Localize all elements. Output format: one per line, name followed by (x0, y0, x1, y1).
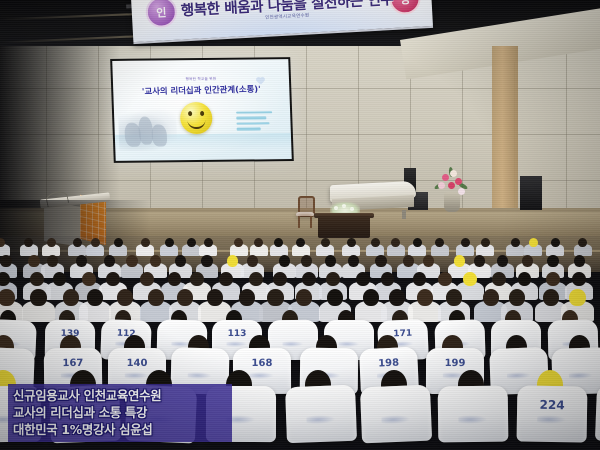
seat-logo-icon (250, 372, 274, 379)
smiley-mouth (187, 117, 205, 129)
seat-logo-icon (506, 371, 531, 379)
slide-side-text (236, 111, 281, 133)
flower-bloom (334, 206, 338, 210)
flower-bloom (342, 204, 346, 208)
audience-head (438, 272, 452, 286)
slide-hands-graphic (118, 108, 177, 151)
text-line (236, 122, 269, 125)
audience-head (76, 255, 87, 267)
seat-number: 198 (360, 357, 418, 371)
text-line (237, 128, 261, 131)
seat-number (438, 398, 508, 399)
seat-logo-icon (124, 372, 148, 379)
audience-head (483, 289, 499, 306)
audience-head (509, 289, 525, 306)
seat-number (285, 397, 355, 400)
seat-number (489, 357, 547, 359)
seat-logo-icon (569, 372, 594, 380)
audience-head (219, 272, 233, 286)
audience-head (204, 238, 213, 247)
hand-shape (151, 124, 167, 146)
chair-leg (298, 216, 300, 228)
audience-head (148, 289, 164, 306)
seat-logo-icon (459, 415, 489, 424)
audience-head (63, 289, 79, 306)
projected-slide: 행복한 학교를 위한 '교사의 리더십과 인간관계(소통)' (112, 59, 292, 161)
audience-head (82, 272, 96, 286)
audience-head (0, 255, 11, 267)
seat-logo-icon (381, 415, 411, 425)
audience-head (375, 255, 386, 267)
audience-head (574, 255, 585, 267)
seat-logo-icon (306, 415, 336, 425)
seat-logo-icon (338, 341, 359, 347)
flower-bloom (448, 182, 455, 189)
flower-bloom (450, 170, 457, 177)
photograph: 인 영 행복한 배움과 나눔을 실천하는 연수 인천광역시교육연수원 행복한 학… (0, 0, 600, 450)
audience-head (87, 289, 103, 306)
audience-head (190, 272, 204, 286)
audience-head (492, 272, 506, 286)
flower-bloom (458, 188, 465, 195)
audience-head (461, 238, 470, 247)
audience-head (522, 255, 533, 267)
seat-number (360, 397, 430, 400)
audience-head (141, 238, 150, 247)
audience-head (301, 255, 312, 267)
audience-head (126, 255, 137, 267)
seat-number (0, 328, 36, 330)
text-line (236, 111, 272, 114)
seat-number (0, 357, 35, 359)
seat-number: 167 (43, 358, 101, 370)
audience-head (239, 289, 255, 306)
audience-head (547, 255, 558, 267)
audience-head (140, 272, 154, 286)
smiley-face-icon (180, 102, 213, 134)
audience-head (327, 289, 343, 306)
audience-head (187, 238, 196, 247)
caption-overlay: 신규임용교사 인천교육연수원 교사의 리더십과 소통 특강 대한민국 1%명강사… (8, 384, 232, 442)
seat-number: 224 (517, 398, 587, 413)
caption-line-1: 신규임용교사 인천교육연수원 (13, 387, 227, 404)
smiley-eye (188, 111, 192, 116)
audience-head (73, 238, 82, 247)
audience-head (177, 289, 193, 306)
audience-head (47, 255, 58, 267)
audience-head (348, 255, 359, 267)
seat-number (552, 357, 600, 359)
seat-logo-icon (537, 415, 567, 424)
seat-number (300, 358, 358, 359)
audience-head (454, 255, 465, 267)
audience-head (104, 255, 115, 267)
audience-head (543, 289, 559, 306)
chair-leg (310, 216, 312, 228)
audience-head (175, 255, 186, 267)
audience-head (321, 238, 330, 247)
audience-head (413, 238, 422, 247)
stage-speaker (520, 176, 542, 210)
audience-head (247, 255, 258, 267)
slide-eyebrow: 행복한 학교를 위한 (185, 77, 216, 82)
vase (444, 192, 460, 212)
audience-head (47, 238, 56, 247)
audience-head (0, 289, 15, 306)
audience-head (423, 255, 434, 267)
text-line (236, 117, 266, 120)
audience-head (403, 255, 414, 267)
audience-head (529, 238, 538, 247)
audience-head (249, 272, 263, 286)
audience-head (267, 289, 283, 306)
audience-head (546, 272, 560, 286)
audience-head (325, 255, 336, 267)
audience-head (497, 255, 508, 267)
audience-head (91, 238, 100, 247)
audience-head (279, 255, 290, 267)
audience-head (511, 238, 520, 247)
flower-bloom (438, 182, 445, 189)
caption-line-2: 교사의 리더십과 소통 특강 (13, 404, 227, 421)
audience-head (302, 272, 316, 286)
audience-head (417, 289, 433, 306)
audience-head (389, 289, 405, 306)
audience-head (106, 272, 120, 286)
piano-leg (402, 210, 406, 219)
audience-head (117, 289, 133, 306)
seat-cover (360, 385, 432, 444)
caption-line-3: 대한민국 1%명강사 심윤섭 (13, 421, 227, 438)
audience-head (572, 272, 586, 286)
audience-head (30, 289, 46, 306)
seat-cover (285, 385, 357, 443)
seat-number: 140 (108, 358, 166, 369)
seat-number (172, 357, 230, 358)
seat-logo-icon (188, 372, 213, 380)
seat-cover: 224 (517, 385, 588, 442)
audience-head (371, 238, 380, 247)
seat-number (435, 328, 485, 329)
flower-arrangement (432, 160, 472, 218)
flower-bloom (350, 207, 354, 211)
seat-logo-icon (227, 341, 248, 347)
projection-screen: 행복한 학교를 위한 '교사의 리더십과 인간관계(소통)' (110, 57, 294, 163)
audience-head (347, 238, 356, 247)
slide-title: '교사의 리더십과 인간관계(소통)' (142, 83, 261, 97)
smiley-eye (200, 111, 204, 116)
audience-head (296, 289, 312, 306)
seat-cover (438, 386, 509, 443)
audience-head (207, 289, 223, 306)
seat-number (548, 328, 598, 329)
flower-bloom (442, 174, 449, 181)
flower-bloom (455, 178, 462, 185)
audience-head (551, 238, 560, 247)
stage-chair (296, 196, 314, 228)
low-table (318, 216, 370, 238)
audience-head (446, 289, 462, 306)
audience-head (114, 238, 123, 247)
audience-head (481, 238, 490, 247)
seat-logo-icon (282, 341, 303, 348)
seat-number (157, 328, 207, 329)
audience-head (28, 255, 39, 267)
audience-head (165, 238, 174, 247)
seat-number: 199 (426, 358, 484, 369)
audience-head (363, 289, 379, 306)
audience-head (201, 255, 212, 267)
audience-head (569, 289, 585, 306)
seat-number: 168 (233, 358, 291, 369)
